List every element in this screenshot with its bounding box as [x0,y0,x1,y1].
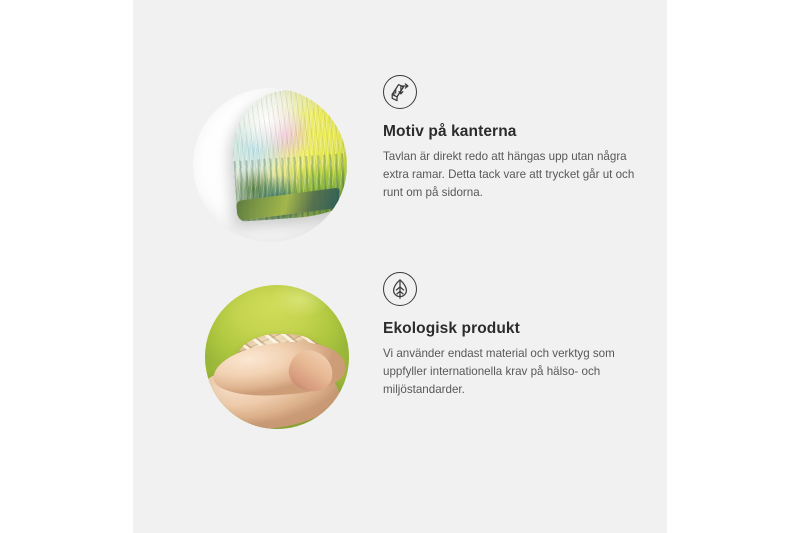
feature-text-edges: Motiv på kanterna Tavlan är direkt redo … [383,75,663,202]
feature-body: Vi använder endast material och verktyg … [383,345,651,399]
feature-body: Tavlan är direkt redo att hängas upp uta… [383,148,651,202]
canvas-wrapped-edges-icon [383,75,417,109]
canvas-print-corner-photo [193,88,347,242]
feature-block-eco: Ekologisk produkt Vi använder endast mat… [133,272,667,452]
canvas-slab [229,88,347,222]
feature-title: Motiv på kanterna [383,123,663,142]
leaf-icon [383,272,417,306]
feature-title: Ekologisk produkt [383,320,663,339]
content-panel: Motiv på kanterna Tavlan är direkt redo … [133,0,667,533]
feature-text-eco: Ekologisk produkt Vi använder endast mat… [383,272,663,399]
product-feature-page: Motiv på kanterna Tavlan är direkt redo … [0,0,800,533]
feature-block-edges: Motiv på kanterna Tavlan är direkt redo … [133,75,667,255]
hands-holding-wood-chips-photo [205,285,349,429]
